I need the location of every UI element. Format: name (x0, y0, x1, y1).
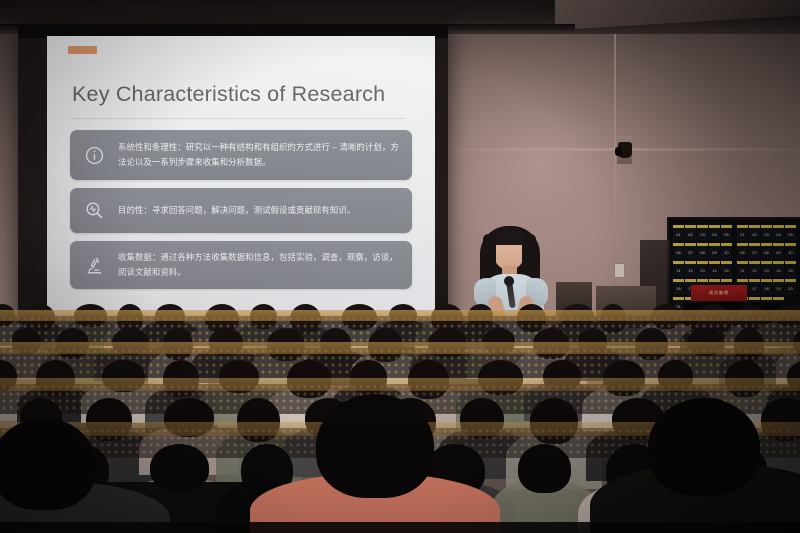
board-cell: 13 (697, 261, 708, 277)
slide-title: Key Characteristics of Research (72, 82, 412, 107)
lecture-hall-photo: 0102030405060708091011121314151617181920… (0, 0, 800, 533)
slide-bullet-text: 收集数据：通过各种方法收集数据和信息，包括实验，调查，观察，访谈，阅读文献和资料… (118, 250, 412, 279)
board-cell: 03 (761, 225, 772, 241)
board-cell: 12 (749, 261, 760, 277)
board-cell: 01 (673, 225, 684, 241)
audience-head (518, 444, 571, 493)
foreground-head (648, 398, 760, 496)
desk-surface (0, 342, 800, 354)
desk-surface (0, 378, 800, 391)
board-cell: 04 (773, 225, 784, 241)
board-cell: 09 (773, 243, 784, 259)
board-cell: 10 (721, 243, 732, 259)
slide-title-divider (72, 118, 405, 119)
board-cell: 07 (685, 243, 696, 259)
board-cell: 05 (721, 225, 732, 241)
board-cell: 01 (737, 225, 748, 241)
foreground-head (0, 418, 96, 510)
wall-camera-icon (618, 142, 632, 158)
board-cell: 03 (697, 225, 708, 241)
slide-bullet-text: 系统性和条理性：研究以一种有结构和有组织的方式进行 – 清晰的计划，方法论以及一… (118, 140, 412, 169)
seated-audience (0, 286, 800, 533)
slide-bullet-list: 系统性和条理性：研究以一种有结构和有组织的方式进行 – 清晰的计划，方法论以及一… (70, 130, 412, 297)
board-cell: 07 (749, 243, 760, 259)
slide-bullet-item: 目的性：寻求回答问题，解决问题，测试假设或贡献现有知识。 (70, 188, 412, 233)
info-circle-icon (70, 145, 118, 166)
slide-bullet-text: 目的性：寻求回答问题，解决问题，测试假设或贡献现有知识。 (118, 203, 412, 218)
board-cell: 15 (785, 261, 796, 277)
desk-surface (0, 310, 800, 321)
board-cell: 09 (709, 243, 720, 259)
foreground-head (316, 394, 434, 498)
board-cell: 11 (673, 261, 684, 277)
foreground-desk-edge (0, 522, 800, 533)
board-cell: 14 (709, 261, 720, 277)
slide-bullet-item: 系统性和条理性：研究以一种有结构和有组织的方式进行 – 清晰的计划，方法论以及一… (70, 130, 412, 180)
board-cell: 04 (709, 225, 720, 241)
magnifier-pulse-icon (70, 200, 118, 221)
microscope-icon (70, 255, 118, 276)
board-cell: 10 (785, 243, 796, 259)
board-cell: 06 (737, 243, 748, 259)
board-cell: 12 (685, 261, 696, 277)
board-cell: 05 (785, 225, 796, 241)
slide-accent-bar (68, 46, 97, 54)
board-cell: 14 (773, 261, 784, 277)
board-cell: 11 (737, 261, 748, 277)
light-switch-plate[interactable] (614, 263, 625, 278)
board-cell: 06 (673, 243, 684, 259)
board-cell: 02 (749, 225, 760, 241)
board-cell: 08 (761, 243, 772, 259)
board-cell: 15 (721, 261, 732, 277)
board-cell: 02 (685, 225, 696, 241)
slide-bullet-item: 收集数据：通过各种方法收集数据和信息，包括实验，调查，观察，访谈，阅读文献和资料… (70, 241, 412, 289)
board-cell: 13 (761, 261, 772, 277)
board-cell: 08 (697, 243, 708, 259)
